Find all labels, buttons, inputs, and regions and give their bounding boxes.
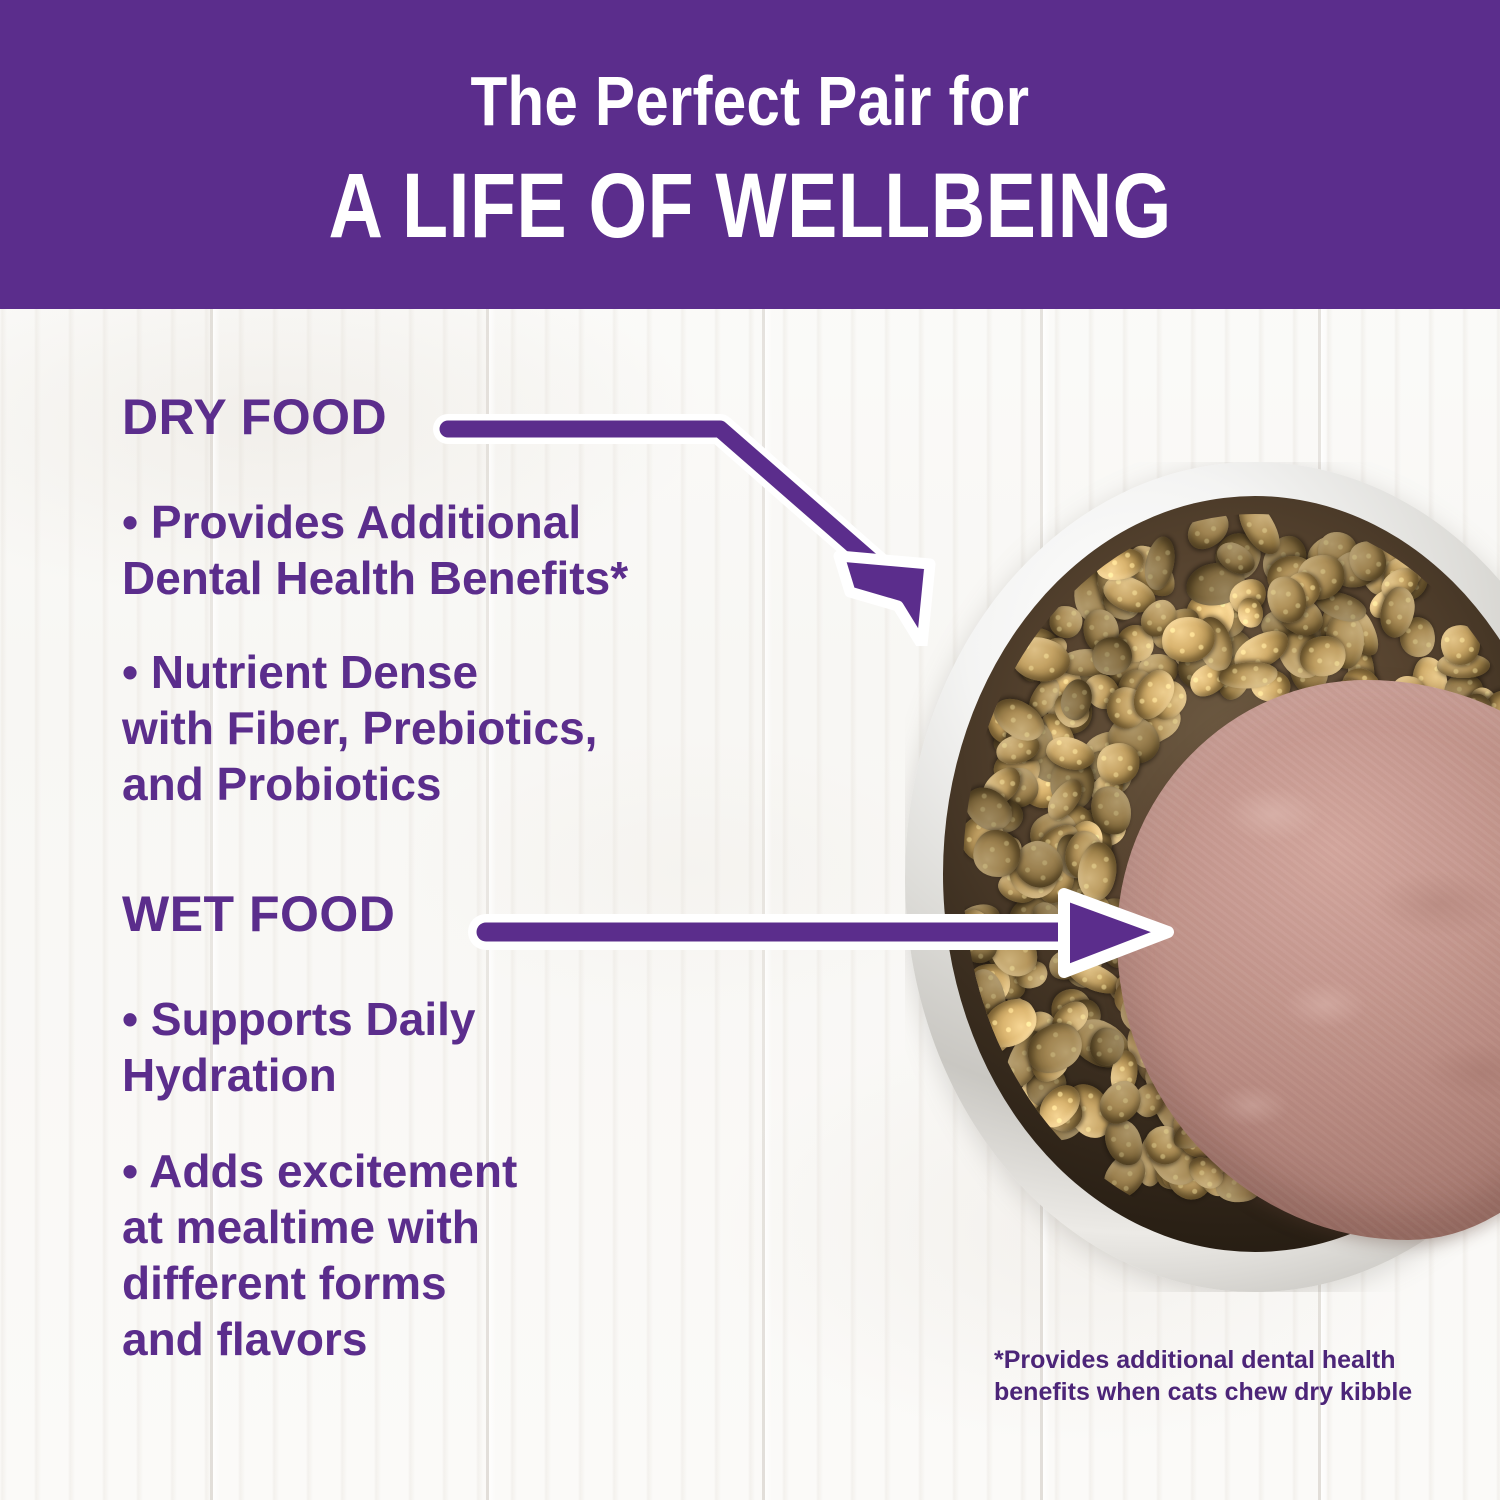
steel-bowl <box>905 462 1500 1292</box>
kibble-piece <box>1050 606 1083 639</box>
header-band: The Perfect Pair for A LIFE OF WELLBEING <box>0 0 1500 309</box>
bullet-dry-dental-benefits: • Provides Additional Dental Health Bene… <box>122 494 822 606</box>
header-title: A LIFE OF WELLBEING <box>328 160 1171 252</box>
benefits-copy-column: DRY FOOD • Provides Additional Dental He… <box>122 392 822 1367</box>
header-subtitle: The Perfect Pair for <box>471 66 1030 136</box>
section-heading-dry-food: DRY FOOD <box>122 392 822 442</box>
section-heading-wet-food: WET FOOD <box>122 889 822 939</box>
kibble-piece <box>972 829 1020 878</box>
cat-food-bowl-photo <box>905 462 1500 1292</box>
bullet-dry-nutrient-dense: • Nutrient Dense with Fiber, Prebiotics,… <box>122 644 822 812</box>
bullet-wet-hydration: • Supports Daily Hydration <box>122 991 822 1103</box>
promo-infographic: The Perfect Pair for A LIFE OF WELLBEING… <box>0 0 1500 1500</box>
bullet-wet-excitement: • Adds excitement at mealtime with diffe… <box>122 1143 822 1367</box>
footnote-dental-disclaimer: *Provides additional dental health benef… <box>994 1345 1464 1408</box>
